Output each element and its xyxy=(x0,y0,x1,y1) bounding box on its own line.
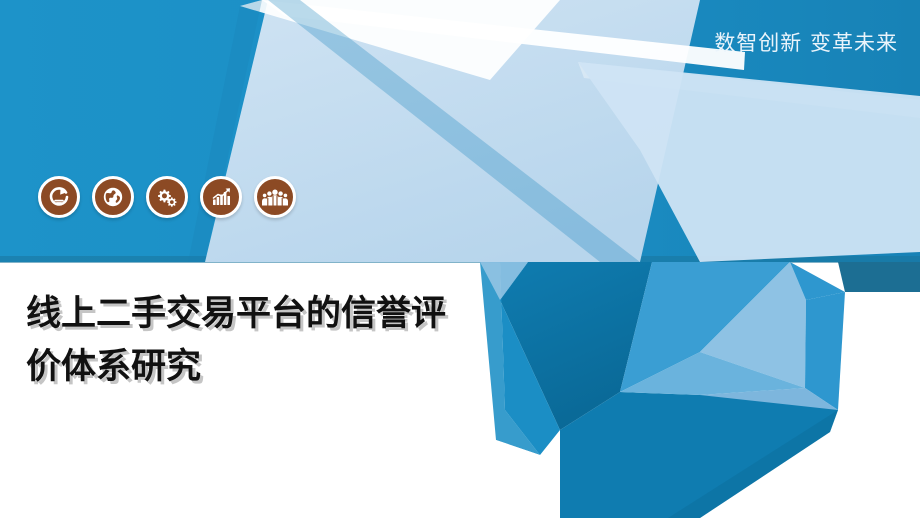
slide-title: 线上二手交易平台的信誉评 价体系研究 xyxy=(26,288,546,394)
presentation-slide: 数智创新 变革未来 xyxy=(0,0,920,518)
globe-icon[interactable] xyxy=(92,176,134,218)
slide-tagline: 数智创新 变革未来 xyxy=(714,27,898,57)
title-line-1: 线上二手交易平台的信誉评 xyxy=(26,288,546,341)
gears-icon[interactable] xyxy=(146,176,188,218)
team-people-icon[interactable] xyxy=(254,176,296,218)
title-line-2: 价体系研究 xyxy=(26,341,546,394)
feature-icon-row xyxy=(38,176,296,218)
dark-strip-right xyxy=(838,262,920,292)
geometric-background-art xyxy=(0,0,920,518)
bar-chart-growth-icon[interactable] xyxy=(200,176,242,218)
refresh-arrow-icon[interactable] xyxy=(38,176,80,218)
